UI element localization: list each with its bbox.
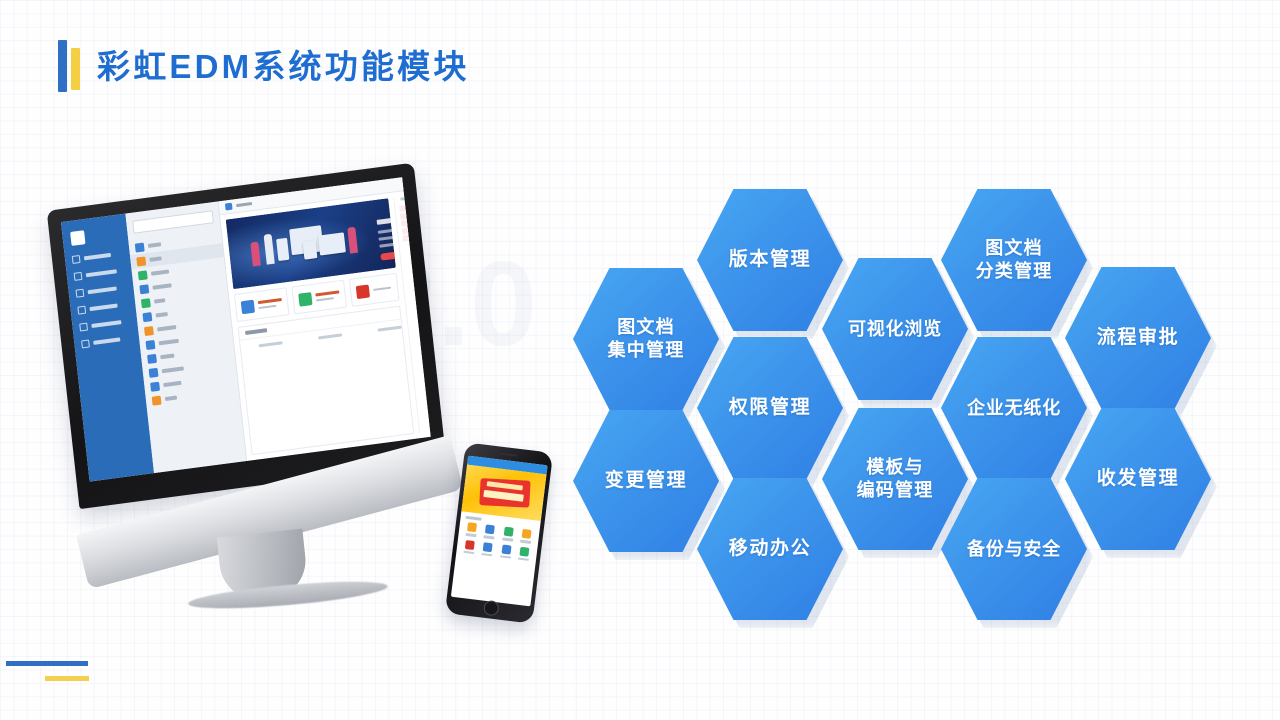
slide-canvas: 彩虹EDM系统功能模块 2.0: [0, 0, 1280, 720]
hex-label: 变更管理: [597, 469, 695, 493]
hex-label: 权限管理: [721, 396, 819, 420]
hex-label: 版本管理: [721, 248, 819, 272]
footer-accent-bar-blue: [6, 661, 88, 666]
hex-label: 移动办公: [721, 537, 819, 561]
hex-label: 备份与安全: [959, 538, 1069, 561]
honeycomb-diagram: 图文档 集中管理 版本管理 权限管理 变更管理 移动办公 可视化浏览 模板与 编…: [0, 0, 1280, 720]
hex-label: 流程审批: [1089, 326, 1187, 350]
footer-accent-bar-yellow: [45, 676, 89, 681]
hex-label: 模板与 编码管理: [849, 456, 942, 501]
hex-label: 图文档 分类管理: [968, 237, 1061, 282]
hex-label: 可视化浏览: [840, 318, 950, 341]
hex-label: 收发管理: [1089, 467, 1187, 491]
hex-label: 企业无纸化: [959, 397, 1069, 420]
hex-label: 图文档 集中管理: [600, 316, 693, 361]
